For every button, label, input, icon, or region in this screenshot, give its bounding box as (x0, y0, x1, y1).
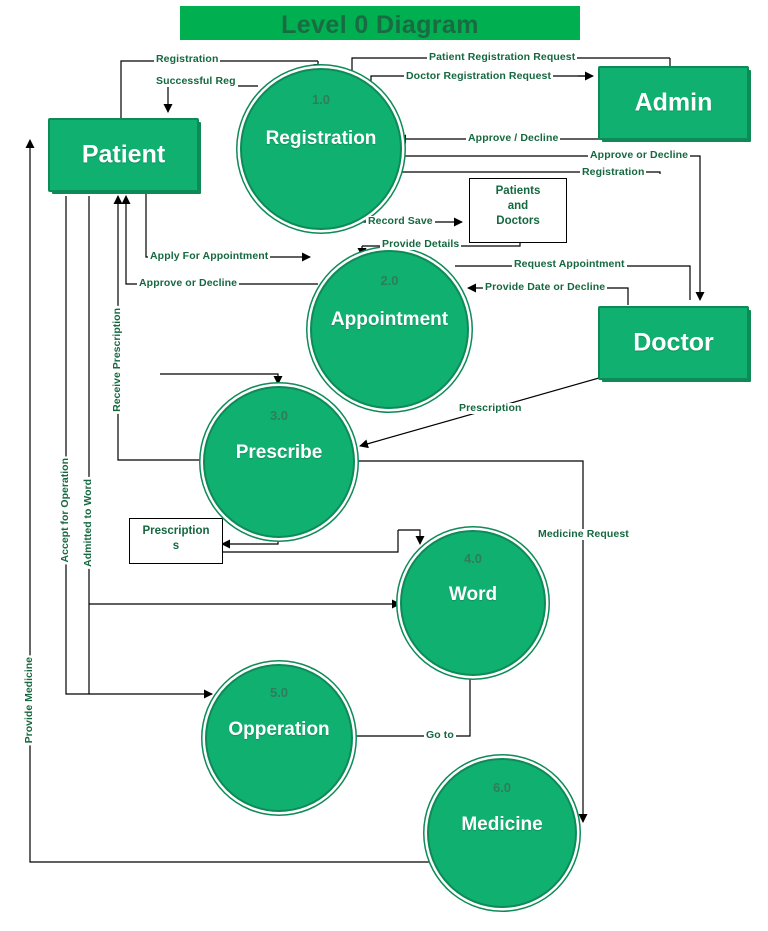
flow-label-approve-slash-decline: Approve / Decline (466, 133, 560, 144)
entity-patient-label: Patient (50, 141, 197, 170)
process-appointment-label: Appointment (312, 309, 467, 331)
entity-admin-label: Admin (600, 89, 747, 118)
datastore-patients-and-doctors[interactable]: Patients and Doctors (469, 178, 567, 243)
flow-label-apply-for-appointment: Apply For Appointment (148, 251, 270, 262)
flow-label-provide-medicine: Provide Medicine (24, 655, 35, 745)
process-prescribe-number: 3.0 (205, 408, 353, 423)
flow-label-request-appointment: Request Appointment (512, 259, 627, 270)
datastore-line: Patients (470, 184, 566, 199)
process-word[interactable]: 4.0 Word (400, 530, 546, 676)
process-opperation[interactable]: 5.0 Opperation (205, 664, 353, 812)
process-appointment-number: 2.0 (312, 273, 467, 288)
flow-label-registration-doctor: Registration (580, 167, 646, 178)
entity-doctor[interactable]: Doctor (598, 306, 749, 380)
datastore-line: s (130, 539, 222, 554)
process-opperation-label: Opperation (207, 719, 351, 741)
datastore-prescriptions[interactable]: Prescription s (129, 518, 223, 564)
process-medicine-label: Medicine (429, 814, 575, 836)
flow-label-provide-details: Provide Details (380, 239, 461, 250)
process-medicine[interactable]: 6.0 Medicine (427, 758, 577, 908)
flow-label-receive-prescription: Receive Prescription (112, 306, 123, 414)
flow-label-record-save: Record Save (366, 216, 435, 227)
process-registration-label: Registration (242, 128, 400, 150)
datastore-line: and (470, 199, 566, 214)
datastore-line: Doctors (470, 214, 566, 229)
process-registration[interactable]: 1.0 Registration (240, 68, 402, 230)
flow-label-medicine-request: Medicine Request (536, 529, 631, 540)
flow-label-admitted-to-word: Admitted to Word (83, 477, 94, 569)
flow-label-accept-for-operation: Accept for Operation (60, 456, 71, 564)
flow-label-prescription: Prescription (457, 403, 523, 414)
datastore-line: Prescription (130, 524, 222, 539)
process-appointment[interactable]: 2.0 Appointment (310, 250, 469, 409)
entity-admin[interactable]: Admin (598, 66, 749, 140)
process-prescribe[interactable]: 3.0 Prescribe (203, 386, 355, 538)
process-word-label: Word (402, 584, 544, 606)
entity-patient[interactable]: Patient (48, 118, 199, 192)
entity-doctor-label: Doctor (600, 329, 747, 358)
process-opperation-number: 5.0 (207, 685, 351, 700)
process-medicine-number: 6.0 (429, 780, 575, 795)
flow-label-approve-or-decline-patient: Approve or Decline (137, 278, 239, 289)
process-prescribe-label: Prescribe (205, 442, 353, 464)
flow-label-registration: Registration (154, 54, 220, 65)
flow-label-go-to: Go to (424, 730, 456, 741)
flow-label-patient-registration-request: Patient Registration Request (427, 52, 577, 63)
diagram-canvas: Level 0 Diagram (0, 0, 768, 931)
flow-label-successful-reg: Successful Reg (154, 76, 238, 87)
flow-label-approve-or-decline-admin: Approve or Decline (588, 150, 690, 161)
flow-label-provide-date-or-decline: Provide Date or Decline (483, 282, 607, 293)
process-registration-number: 1.0 (242, 92, 400, 107)
process-word-number: 4.0 (402, 551, 544, 566)
flow-label-doctor-registration-request: Doctor Registration Request (404, 71, 553, 82)
